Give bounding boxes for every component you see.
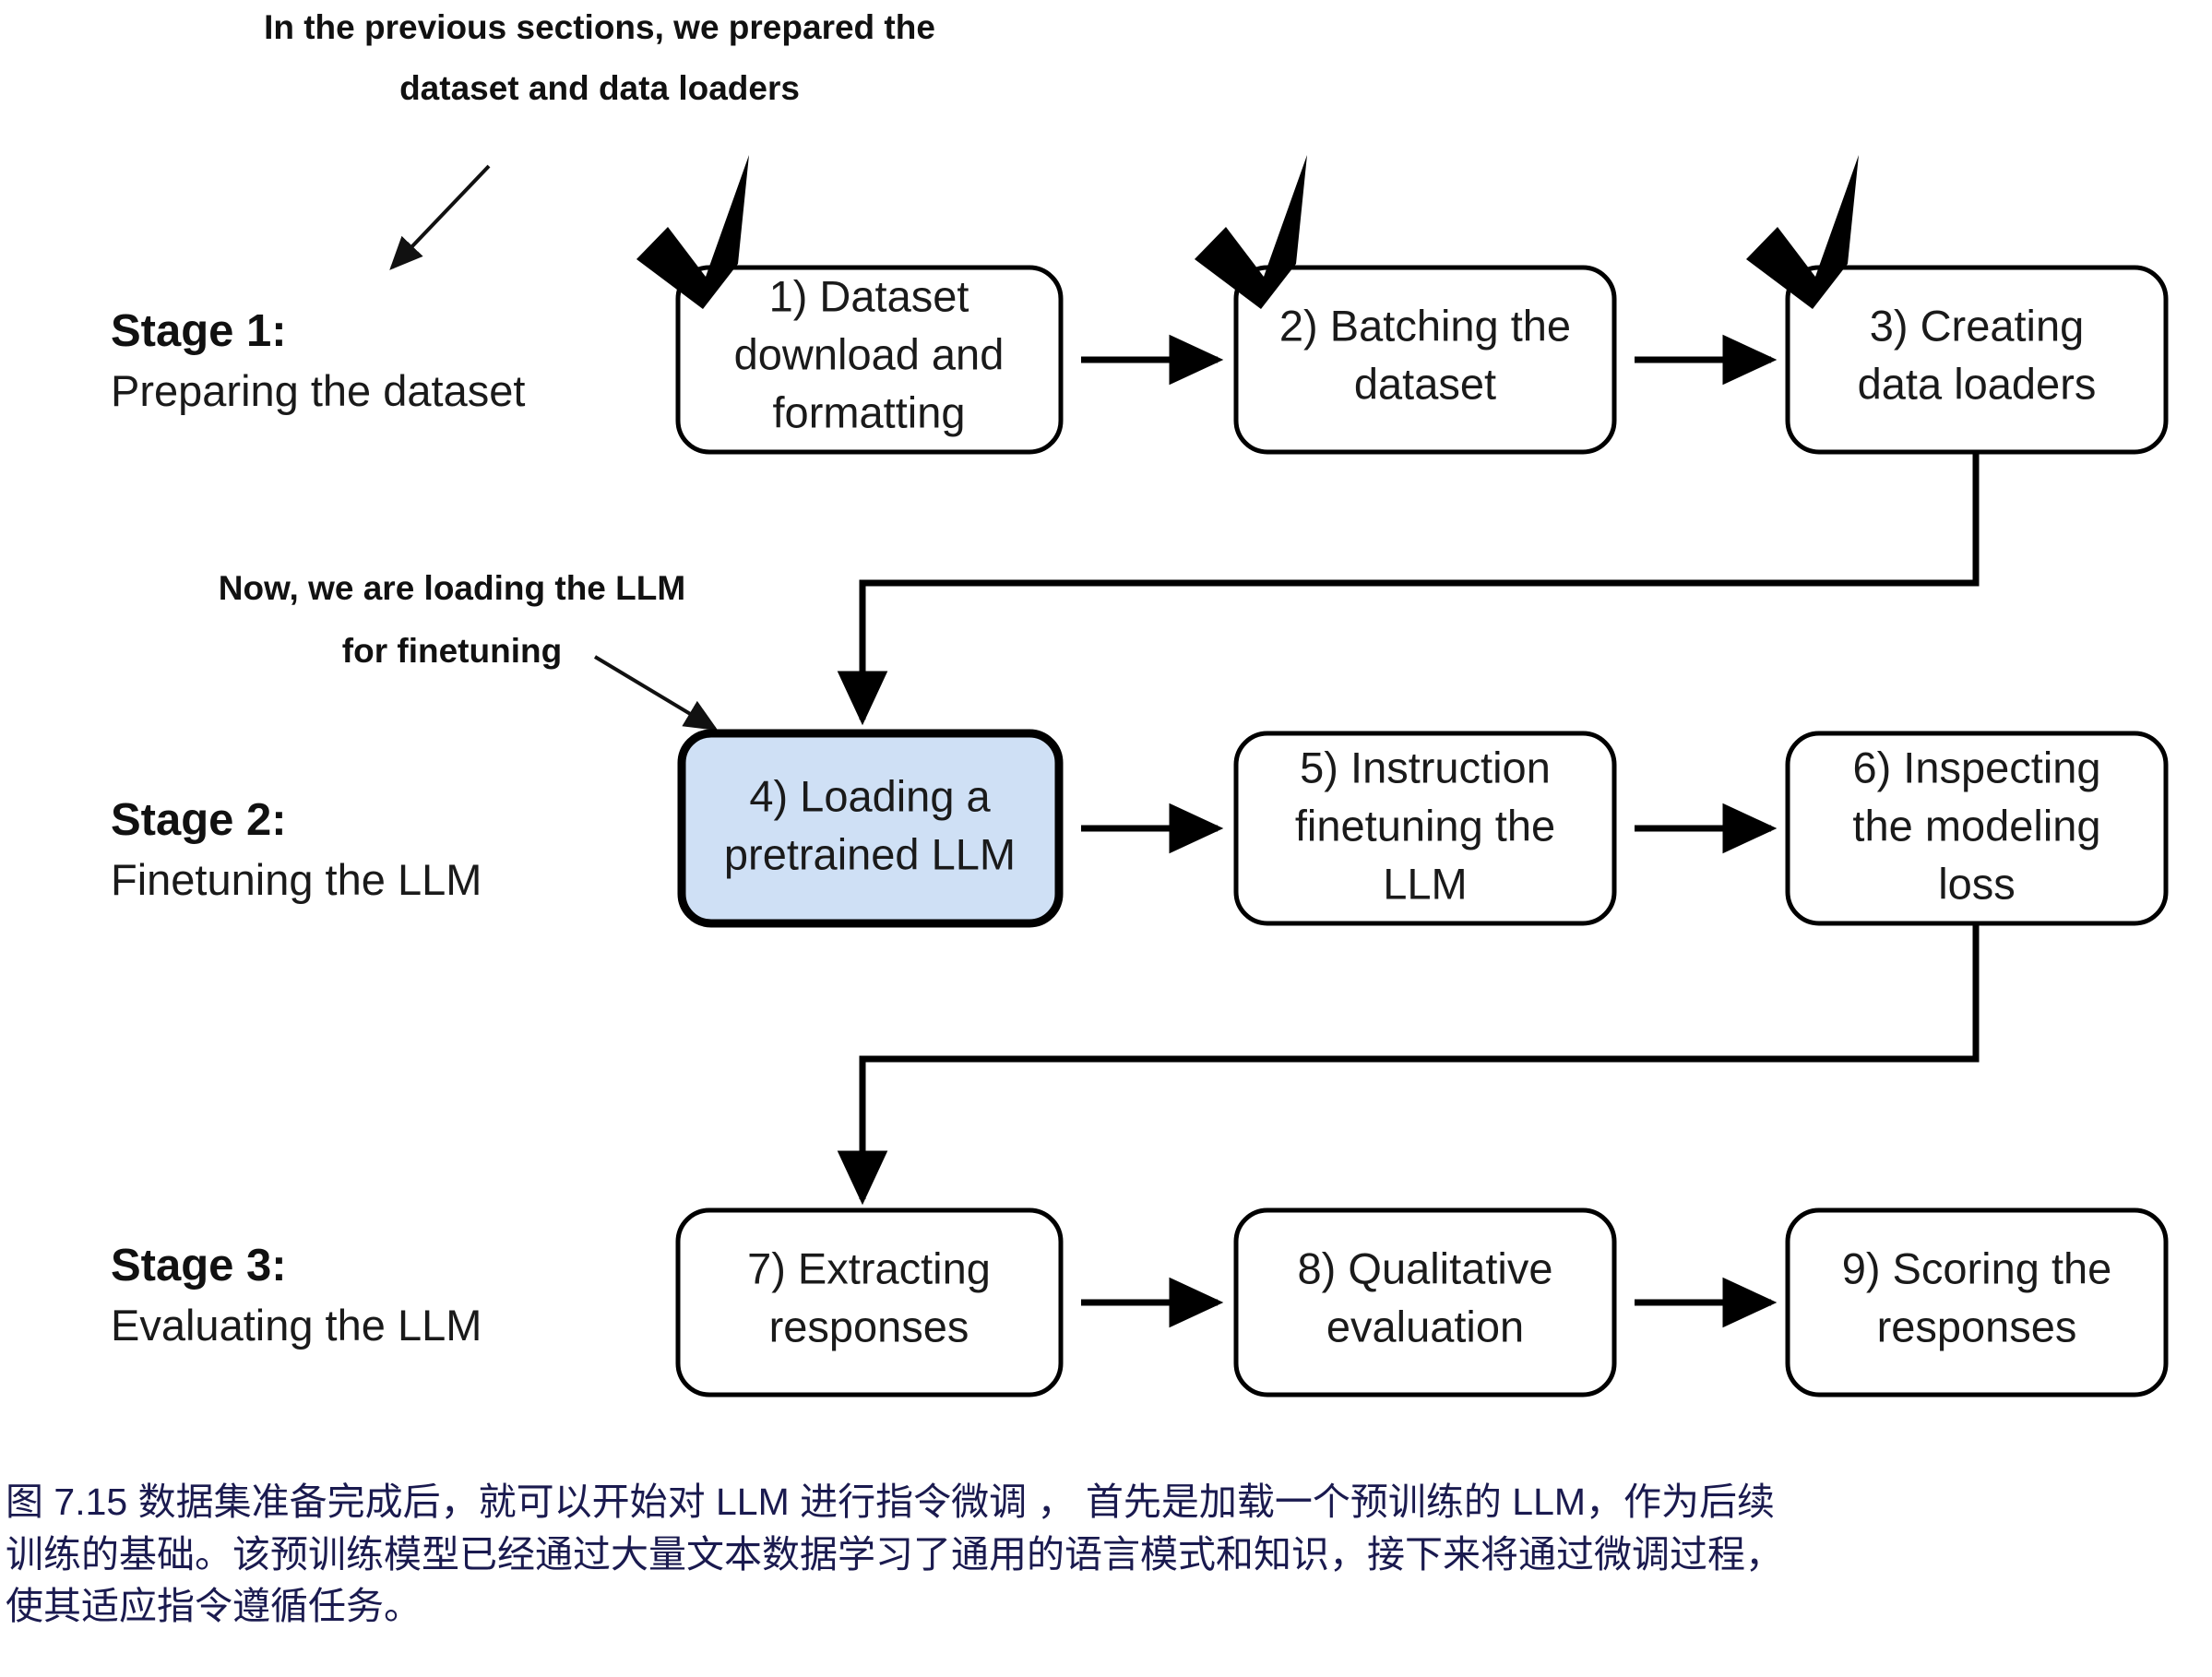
note-loading-llm-line-2: for finetuning	[342, 632, 562, 670]
stage-3-step-7[interactable]: 7) Extracting responses	[678, 1210, 1061, 1395]
stage-3-subtitle: Evaluating the LLM	[111, 1301, 482, 1350]
note-previous-sections-line-2: dataset and data loaders	[399, 69, 800, 107]
stage-3-step-7-line-1: 7) Extracting	[747, 1243, 991, 1292]
stage-2-step-4[interactable]: 4) Loading a pretrained LLM	[682, 733, 1059, 923]
stage-1-title: Stage 1:	[111, 306, 287, 356]
stage-1-step-1[interactable]: 1) Dataset download and formatting	[636, 155, 1061, 452]
stage-1-step-2-line-2: dataset	[1354, 359, 1496, 408]
stage-2-label: Stage 2: Finetuning the LLM	[111, 795, 482, 904]
stage-2-step-6-line-2: the modeling	[1852, 801, 2100, 850]
stage-1-subtitle: Preparing the dataset	[111, 366, 525, 415]
stage-3-step-8-line-2: evaluation	[1326, 1302, 1524, 1350]
stage-1-step-3-line-1: 3) Creating	[1870, 301, 2085, 350]
stage-2-title: Stage 2:	[111, 795, 287, 845]
flowchart-canvas: In the previous sections, we prepared th…	[0, 0, 2212, 1467]
stage-2-step-6-line-1: 6) Inspecting	[1852, 743, 2100, 791]
stage-3-step-7-line-2: responses	[769, 1302, 969, 1350]
stage-2-subtitle: Finetuning the LLM	[111, 855, 482, 904]
stage-2-step-4-line-1: 4) Loading a	[749, 771, 991, 820]
stage-1-label: Stage 1: Preparing the dataset	[111, 306, 525, 415]
stage-2-step-5-line-2: finetuning the	[1295, 801, 1555, 850]
stage-1-step-3[interactable]: 3) Creating data loaders	[1746, 155, 2166, 452]
connector-step6-to-step7	[862, 925, 1976, 1199]
stage-2-step-4-line-2: pretrained LLM	[724, 829, 1016, 878]
stage-1-step-1-line-1: 1) Dataset	[769, 271, 969, 320]
note-loading-llm: Now, we are loading the LLM for finetuni…	[219, 569, 715, 729]
note-previous-sections-line-1: In the previous sections, we prepared th…	[264, 8, 935, 46]
stage-3-step-8-line-1: 8) Qualitative	[1298, 1243, 1553, 1292]
note-previous-sections-arrow	[392, 166, 489, 268]
stage-2-step-4-box[interactable]	[682, 733, 1059, 923]
connector-step3-to-step4	[862, 454, 1976, 720]
stage-2-step-5[interactable]: 5) Instruction finetuning the LLM	[1236, 733, 1614, 923]
stage-2-step-5-line-3: LLM	[1383, 859, 1467, 908]
stage-2-step-5-line-1: 5) Instruction	[1300, 743, 1551, 791]
stage-3-title: Stage 3:	[111, 1241, 287, 1290]
note-previous-sections: In the previous sections, we prepared th…	[264, 8, 935, 268]
stage-1-step-2-line-1: 2) Batching the	[1279, 301, 1571, 350]
stage-1-step-2[interactable]: 2) Batching the dataset	[1195, 155, 1614, 452]
stage-3-label: Stage 3: Evaluating the LLM	[111, 1241, 482, 1350]
stage-3-step-9-line-1: 9) Scoring the	[1842, 1243, 2112, 1292]
caption-line-2: 训练的基础。该预训练模型已经通过大量文本数据学习了通用的语言模式和知识，接下来将…	[6, 1528, 2206, 1581]
stage-3-step-8[interactable]: 8) Qualitative evaluation	[1236, 1210, 1614, 1395]
stage-2-step-6[interactable]: 6) Inspecting the modeling loss	[1788, 733, 2166, 923]
caption-line-3: 使其适应指令遵循任务。	[6, 1580, 2206, 1633]
stage-1-step-3-line-2: data loaders	[1858, 359, 2097, 408]
stage-3-step-9-line-2: responses	[1877, 1302, 2077, 1350]
stage-2-step-6-line-3: loss	[1938, 859, 2016, 908]
note-loading-llm-arrow	[595, 657, 715, 729]
note-loading-llm-line-1: Now, we are loading the LLM	[219, 569, 685, 607]
figure-diagram: In the previous sections, we prepared th…	[0, 0, 2212, 1677]
stage-1-step-1-line-2: download and	[734, 329, 1005, 378]
caption-line-1: 图 7.15 数据集准备完成后，就可以开始对 LLM 进行指令微调 ， 首先是加…	[6, 1476, 2206, 1528]
stage-3-step-9[interactable]: 9) Scoring the responses	[1788, 1210, 2166, 1395]
figure-caption: 图 7.15 数据集准备完成后，就可以开始对 LLM 进行指令微调 ， 首先是加…	[6, 1476, 2206, 1633]
stage-1-step-1-line-3: formatting	[773, 387, 966, 436]
